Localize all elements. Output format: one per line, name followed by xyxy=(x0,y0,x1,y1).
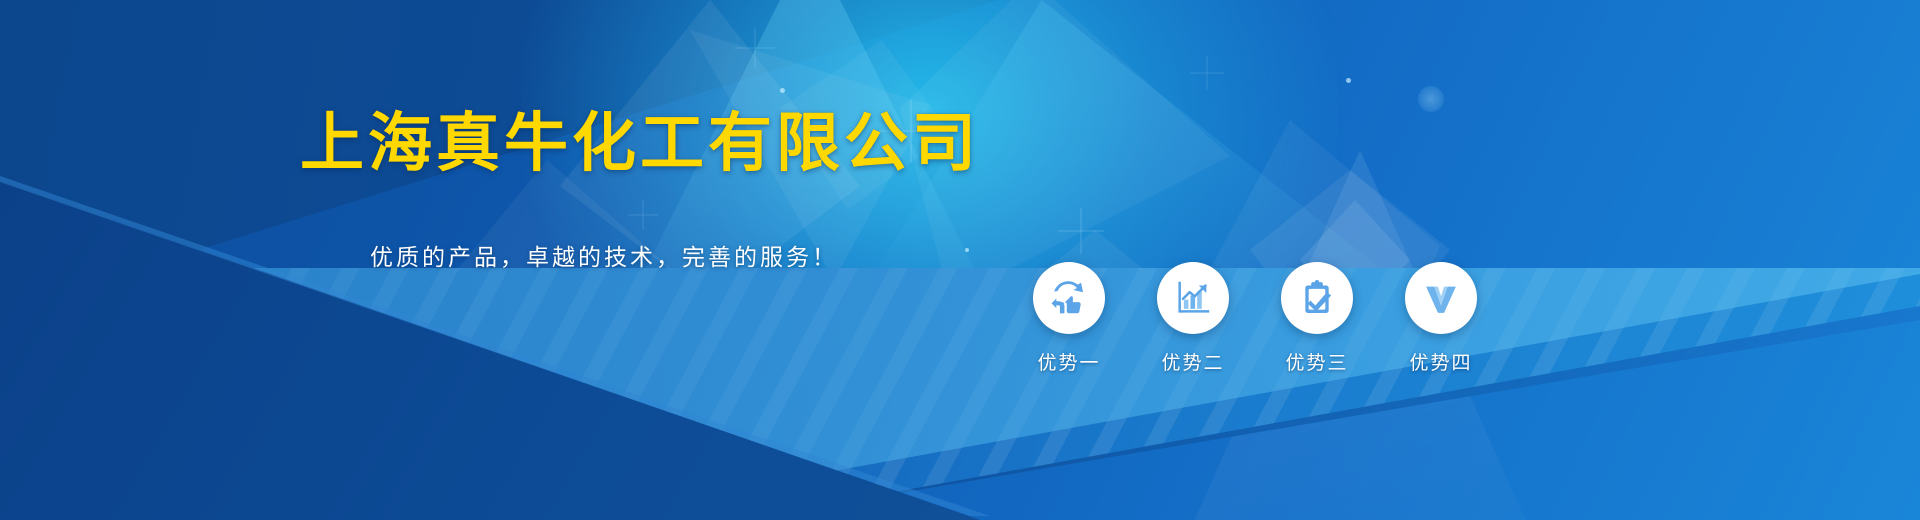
advantage-label-2: 优势二 xyxy=(1161,348,1224,375)
advantage-label-3: 优势三 xyxy=(1285,348,1348,375)
advantage-item-3[interactable]: 优势三 xyxy=(1278,262,1356,375)
advantage-item-2[interactable]: 优势二 xyxy=(1154,262,1232,375)
advantage-icon-circle-2[interactable] xyxy=(1157,262,1229,334)
advantage-label-4: 优势四 xyxy=(1409,348,1472,375)
clipboard-check-icon xyxy=(1297,278,1337,318)
bar-chart-growth-icon xyxy=(1173,278,1213,318)
advantage-icon-circle-4[interactable] xyxy=(1405,262,1477,334)
lens-flare-icon xyxy=(1418,86,1444,112)
company-title: 上海真牛化工有限公司 xyxy=(300,92,980,184)
company-tagline: 优质的产品，卓越的技术，完善的服务！ xyxy=(370,238,838,272)
advantage-icon-circle-3[interactable] xyxy=(1281,262,1353,334)
advantage-item-4[interactable]: 优势四 xyxy=(1402,262,1480,375)
company-hero-banner: 上海真牛化工有限公司 优质的产品，卓越的技术，完善的服务！ 优势一 xyxy=(0,0,1920,520)
advantages-list: 优势一 优势二 xyxy=(1030,262,1480,375)
thumbs-up-refresh-icon xyxy=(1048,277,1090,319)
advantage-icon-circle-1[interactable] xyxy=(1033,262,1105,334)
advantage-label-1: 优势一 xyxy=(1037,348,1100,375)
sparkle-dot-icon xyxy=(1346,78,1351,83)
sparkle-dot-icon xyxy=(965,248,969,252)
v-check-icon xyxy=(1420,277,1462,319)
advantage-item-1[interactable]: 优势一 xyxy=(1030,262,1108,375)
